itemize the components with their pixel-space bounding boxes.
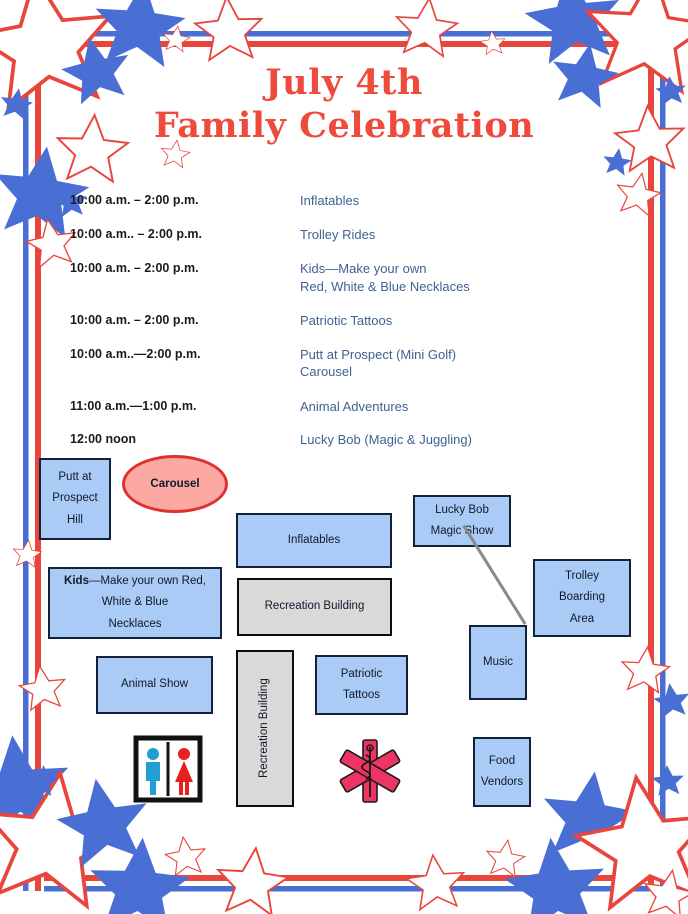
map-box-bold-word: Kids [64, 575, 89, 587]
map-box-music: Music [469, 625, 527, 700]
map-box-line: Hill [67, 510, 83, 531]
map-box-line: Boarding [559, 587, 605, 608]
map-box-line: Prospect [52, 488, 97, 509]
map-box-line: Necklaces [108, 614, 161, 635]
first-aid-icon [337, 738, 403, 804]
event-site-map: Putt at Prospect Hill Carousel Inflatabl… [0, 0, 688, 914]
map-box-line: Animal Show [121, 674, 188, 695]
map-box-inflatables: Inflatables [236, 513, 392, 568]
map-box-animal-show: Animal Show [96, 656, 213, 714]
map-box-recreation-building-vertical: Recreation Building [236, 650, 294, 807]
map-box-recreation-building-horizontal: Recreation Building [237, 578, 392, 636]
map-box-line-bold-lead: Kids—Make your own Red, [64, 571, 206, 592]
map-box-line: White & Blue [102, 592, 168, 613]
restrooms-icon [133, 735, 203, 803]
map-box-line: Patriotic [341, 664, 383, 685]
map-box-lucky-bob-magic-show: Lucky Bob Magic Show [413, 495, 511, 547]
map-box-carousel: Carousel [122, 455, 228, 513]
map-box-line: Inflatables [288, 530, 340, 551]
map-box-line: Food [489, 751, 515, 772]
map-box-line: Tattoos [343, 685, 380, 706]
map-box-patriotic-tattoos: Patriotic Tattoos [315, 655, 408, 715]
map-box-line: Vendors [481, 772, 523, 793]
map-box-line: Music [483, 652, 513, 673]
map-box-line: Trolley [565, 566, 599, 587]
map-box-food-vendors: Food Vendors [473, 737, 531, 807]
map-box-trolley-boarding-area: Trolley Boarding Area [533, 559, 631, 637]
map-box-line: Area [570, 609, 594, 630]
map-box-line-rest: —Make your own Red, [89, 575, 206, 587]
july-4th-celebration-poster: July 4th Family Celebration 10:00 a.m. –… [0, 0, 688, 914]
map-box-line: Putt at [58, 467, 91, 488]
map-box-line: Magic Show [431, 521, 494, 542]
map-box-kids-necklaces: Kids—Make your own Red, White & Blue Nec… [48, 567, 222, 639]
map-box-line: Recreation Building [265, 596, 365, 617]
map-box-line: Lucky Bob [435, 500, 489, 521]
map-box-line: Carousel [150, 478, 199, 490]
map-box-line: Recreation Building [258, 679, 272, 779]
map-box-putt-at-prospect-hill: Putt at Prospect Hill [39, 458, 111, 540]
